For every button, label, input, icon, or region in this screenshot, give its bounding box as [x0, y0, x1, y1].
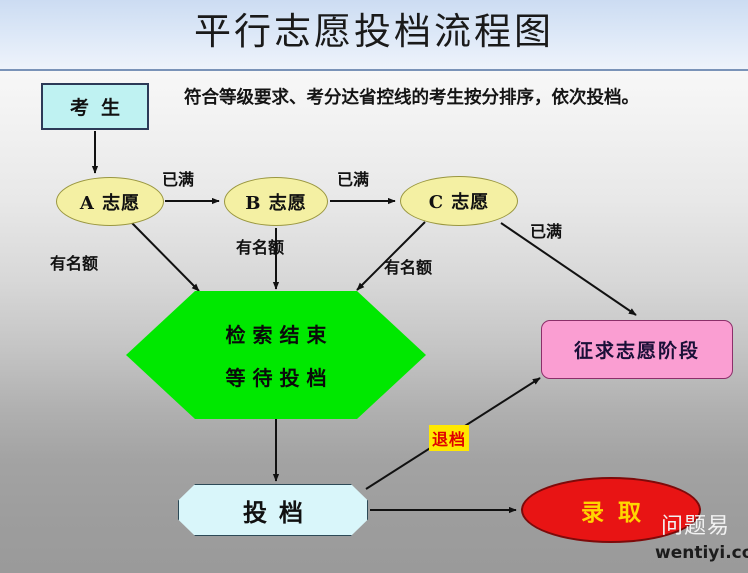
- node-search-done[interactable]: 检索结束 等待投档: [126, 291, 426, 419]
- watermark-brand: 问题易: [661, 508, 730, 540]
- node-wish-c[interactable]: C 志愿: [400, 176, 518, 226]
- edge-label-full-ab: 已满: [162, 166, 194, 190]
- node-wish-a[interactable]: A 志愿: [56, 177, 164, 226]
- node-solicit-stage[interactable]: 征求志愿阶段: [541, 320, 733, 379]
- edge-label-quota-b: 有名额: [236, 234, 284, 258]
- watermark-url: wentiyi.com: [655, 543, 748, 563]
- flowchart-canvas: 平行志愿投档流程图: [0, 0, 748, 573]
- edge-label-quota-a: 有名额: [50, 250, 98, 274]
- edge-wish-c-to-solicit: [501, 223, 636, 315]
- node-search-done-line1: 检索结束: [219, 319, 334, 348]
- edge-label-quota-c: 有名额: [384, 254, 432, 278]
- node-search-done-line2: 等待投档: [219, 362, 334, 391]
- edge-label-full-c: 已满: [530, 218, 562, 242]
- node-candidate[interactable]: 考生: [41, 83, 149, 130]
- edge-label-rejected: 退档: [429, 425, 469, 451]
- node-wish-b[interactable]: B 志愿: [224, 177, 328, 226]
- node-submit-file[interactable]: 投档: [178, 484, 368, 536]
- edge-wish-a-to-search: [131, 222, 199, 291]
- description-text: 符合等级要求、考分达省控线的考生按分排序，依次投档。: [184, 82, 724, 115]
- edge-label-full-bc: 已满: [337, 166, 369, 190]
- page-title: 平行志愿投档流程图: [0, 6, 748, 58]
